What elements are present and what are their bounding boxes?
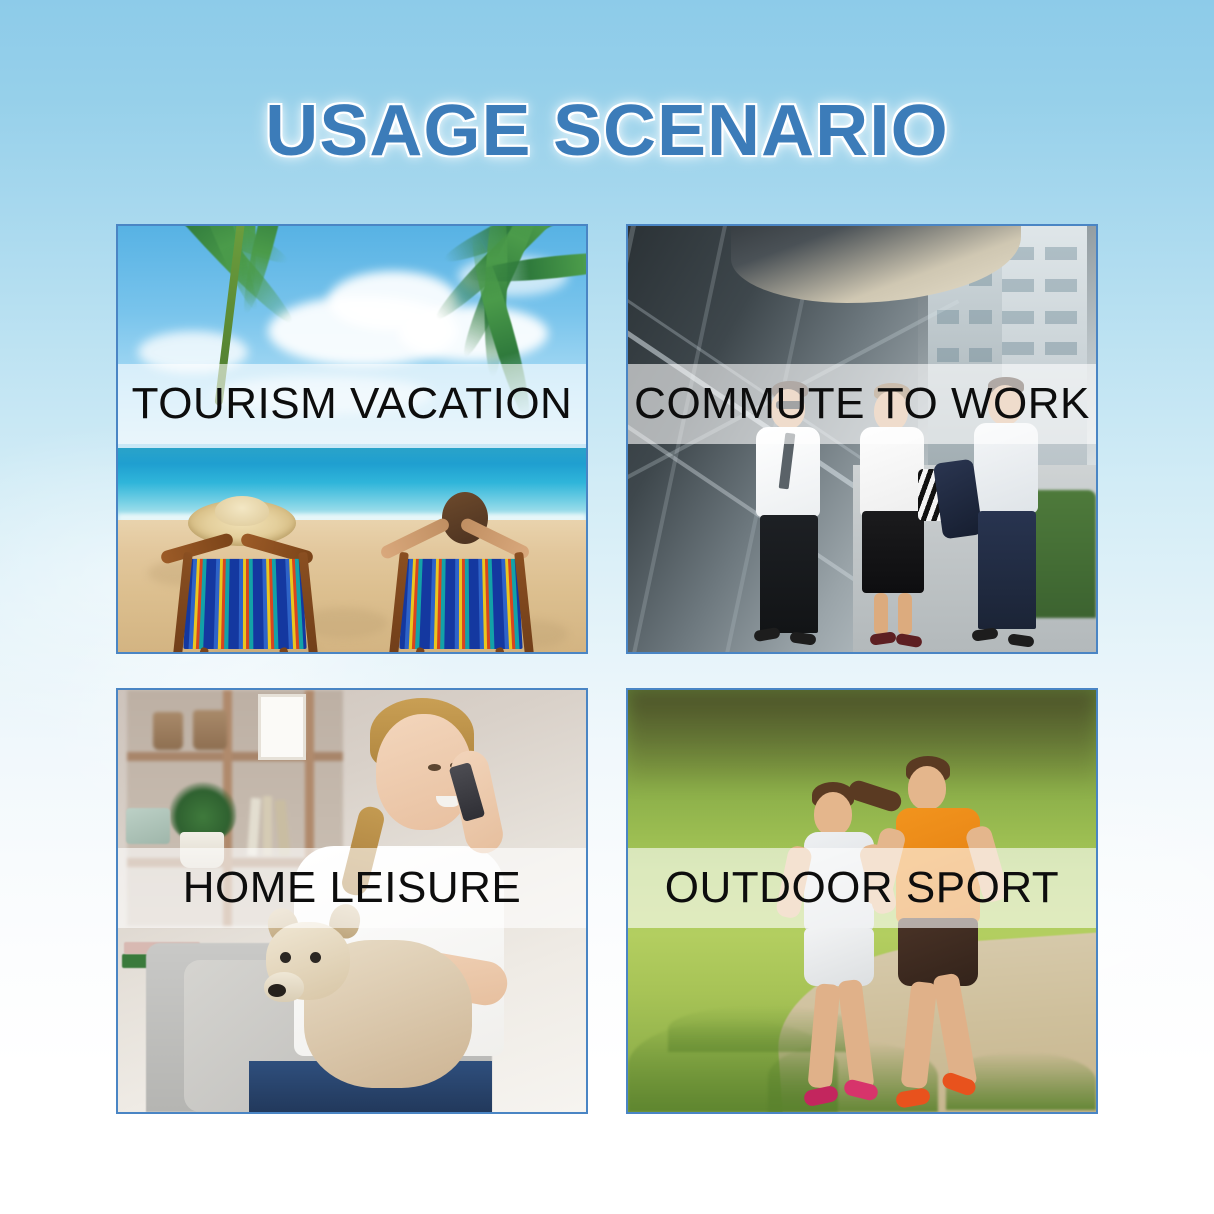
scenario-label-home-leisure: HOME LEISURE	[183, 863, 522, 913]
running-shorts	[804, 928, 874, 986]
decor-box	[126, 808, 170, 844]
scenario-card-outdoor-sport[interactable]: OUTDOOR SPORT	[626, 688, 1098, 1114]
picture-frame	[258, 694, 306, 760]
scenario-label-outdoor-sport: OUTDOOR SPORT	[665, 863, 1059, 913]
scenario-grid: TOURISM VACATION	[116, 224, 1098, 1114]
ocean	[118, 448, 586, 520]
tree-line-blur	[628, 690, 1096, 783]
scenario-card-home-leisure[interactable]: HOME LEISURE	[116, 688, 588, 1114]
scenario-label-commute-to-work: COMMUTE TO WORK	[634, 379, 1090, 429]
page-title-container: USAGE SCENARIO	[0, 90, 1214, 172]
dog-nose	[268, 984, 286, 997]
scenario-label-tourism-vacation: TOURISM VACATION	[132, 379, 573, 429]
scenario-label-band: COMMUTE TO WORK	[628, 364, 1096, 444]
skirt	[862, 511, 924, 593]
scenario-card-commute-to-work[interactable]: COMMUTE TO WORK	[626, 224, 1098, 654]
scenario-label-band: HOME LEISURE	[118, 848, 586, 928]
scenario-label-band: OUTDOOR SPORT	[628, 848, 1096, 928]
sun-hat-crown	[215, 496, 269, 526]
scenario-label-band: TOURISM VACATION	[118, 364, 586, 444]
dog-eye	[310, 952, 321, 963]
usage-scenario-page: USAGE SCENARIO	[0, 0, 1214, 1214]
scenario-card-tourism-vacation[interactable]: TOURISM VACATION	[116, 224, 588, 654]
dog-eye	[280, 952, 291, 963]
page-title: USAGE SCENARIO	[265, 90, 948, 172]
